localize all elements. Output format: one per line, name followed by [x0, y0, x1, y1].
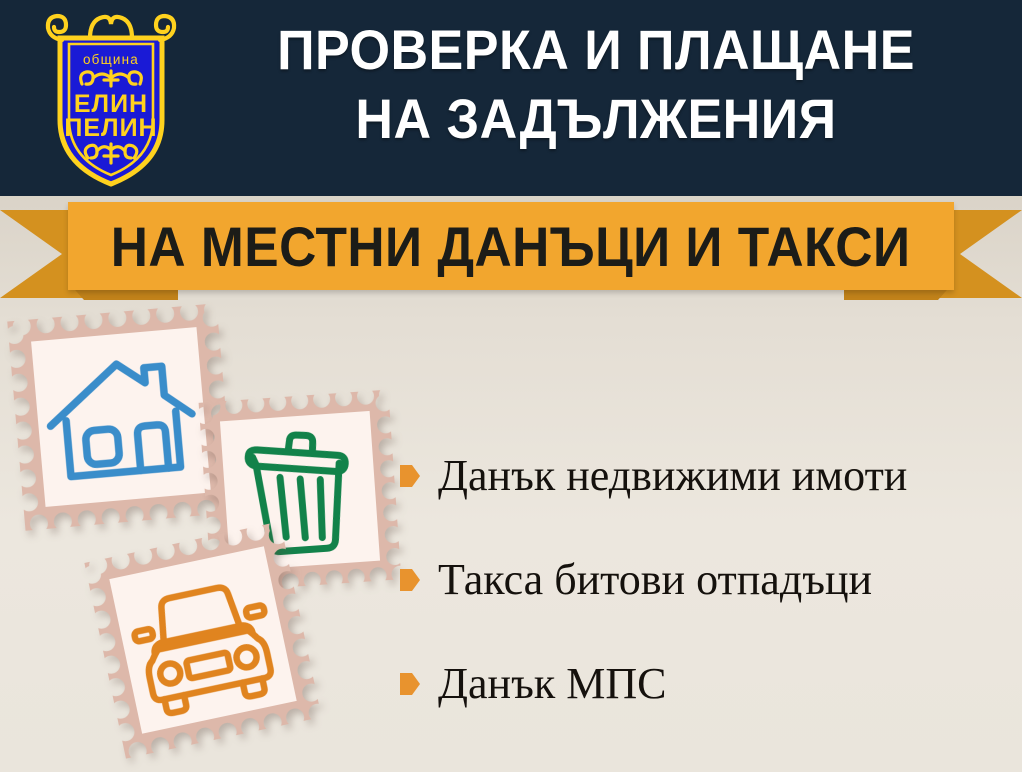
ribbon-label: НА МЕСТНИ ДАНЪЦИ И ТАКСИ — [111, 214, 911, 279]
services-list: Данък недвижими имоти Такса битови отпад… — [400, 424, 1000, 736]
arrow-bullet-icon — [400, 463, 420, 489]
stamp-card-vehicle — [84, 521, 321, 758]
list-item-label: Данък МПС — [438, 662, 666, 706]
list-item-label: Данък недвижими имоти — [438, 454, 907, 498]
list-item[interactable]: Данък МПС — [400, 632, 1000, 736]
list-item[interactable]: Такса битови отпадъци — [400, 528, 1000, 632]
header-bar: община ЕЛИН ПЕЛИН — [0, 0, 1022, 196]
ribbon-band: НА МЕСТНИ ДАНЪЦИ И ТАКСИ — [68, 202, 954, 290]
page-title-line2: НА ЗАДЪЛЖЕНИЯ — [215, 85, 978, 154]
poster-canvas: община ЕЛИН ПЕЛИН — [0, 0, 1022, 772]
arrow-bullet-icon — [400, 567, 420, 593]
coat-of-arms-logo: община ЕЛИН ПЕЛИН — [38, 8, 184, 190]
crest-name-line2: ПЕЛИН — [64, 114, 157, 142]
arrow-bullet-icon — [400, 671, 420, 697]
page-title: ПРОВЕРКА И ПЛАЩАНЕ НА ЗАДЪЛЖЕНИЯ — [215, 16, 978, 154]
list-item-label: Такса битови отпадъци — [438, 558, 872, 602]
list-item[interactable]: Данък недвижими имоти — [400, 424, 1000, 528]
page-title-line1: ПРОВЕРКА И ПЛАЩАНЕ — [215, 16, 978, 85]
crest-top-word: община — [83, 52, 139, 67]
ribbon-banner: НА МЕСТНИ ДАНЪЦИ И ТАКСИ — [0, 196, 1022, 306]
